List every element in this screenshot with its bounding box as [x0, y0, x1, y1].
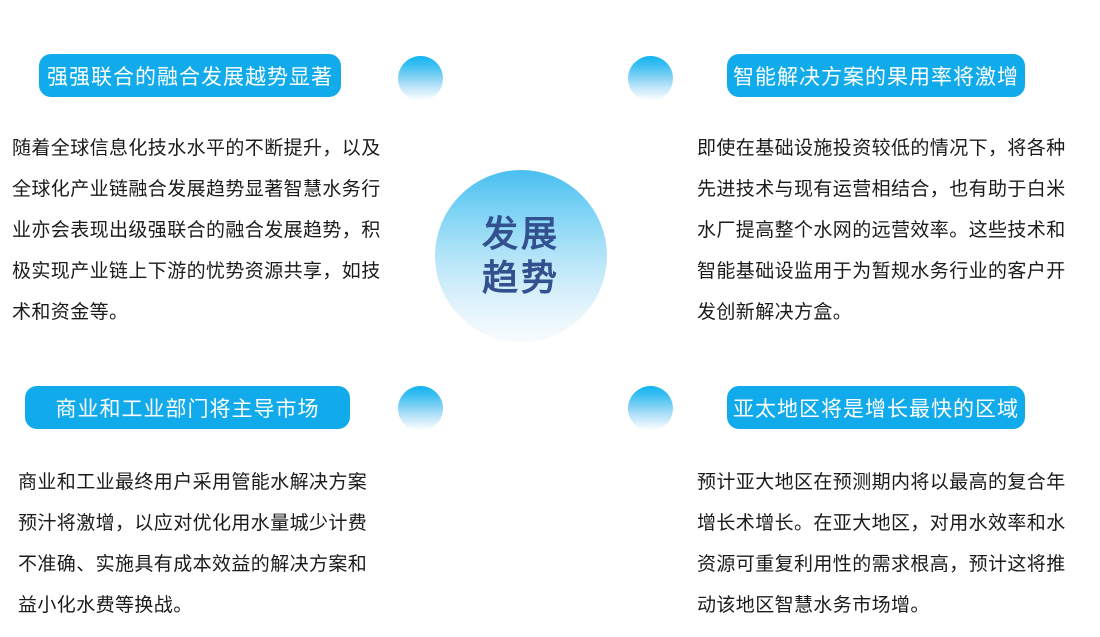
title-pill-bottom-left-label: 商业和工业部门将主导市场: [56, 393, 320, 423]
center-hub-circle: 发展 趋势: [435, 170, 607, 342]
gradient-dot-icon-1: [398, 56, 443, 101]
title-pill-top-left-label: 强强联合的融合发展越势显著: [47, 61, 333, 91]
title-pill-top-right[interactable]: 智能解决方案的果用率将激增: [727, 54, 1025, 97]
body-text-bottom-left: 商业和工业最终用户采用管能水解决方案 预汁将激增，以应对优化用水量城少计费 不准…: [18, 462, 390, 626]
gradient-dot-icon-4: [628, 386, 673, 431]
body-text-bottom-right: 预计亚大地区在预测期内将以最高的复合年 增长术增长。在亚大地区，对用水效率和水 …: [697, 462, 1087, 626]
title-pill-bottom-right-label: 亚太地区将是增长最快的区域: [733, 393, 1019, 423]
title-pill-top-left[interactable]: 强强联合的融合发展越势显著: [39, 54, 341, 97]
body-text-top-left: 随着全球信息化技水水平的不断提升，以及 全球化产业链融合发展趋势显著智慧水务行 …: [12, 128, 384, 333]
infographic-canvas: 强强联合的融合发展越势显著 随着全球信息化技水水平的不断提升，以及 全球化产业链…: [0, 0, 1100, 637]
title-pill-top-right-label: 智能解决方案的果用率将激增: [733, 61, 1019, 91]
gradient-dot-icon-2: [628, 56, 673, 101]
title-pill-bottom-right[interactable]: 亚太地区将是增长最快的区域: [727, 386, 1025, 429]
center-hub-line-2: 趋势: [482, 256, 560, 300]
center-hub-line-1: 发展: [482, 212, 560, 256]
title-pill-bottom-left[interactable]: 商业和工业部门将主导市场: [25, 386, 350, 429]
gradient-dot-icon-3: [398, 386, 443, 431]
body-text-top-right: 即使在基础设施投资较低的情况下，将各种 先进技术与现有运营相结合，也有助于白米 …: [697, 128, 1087, 333]
